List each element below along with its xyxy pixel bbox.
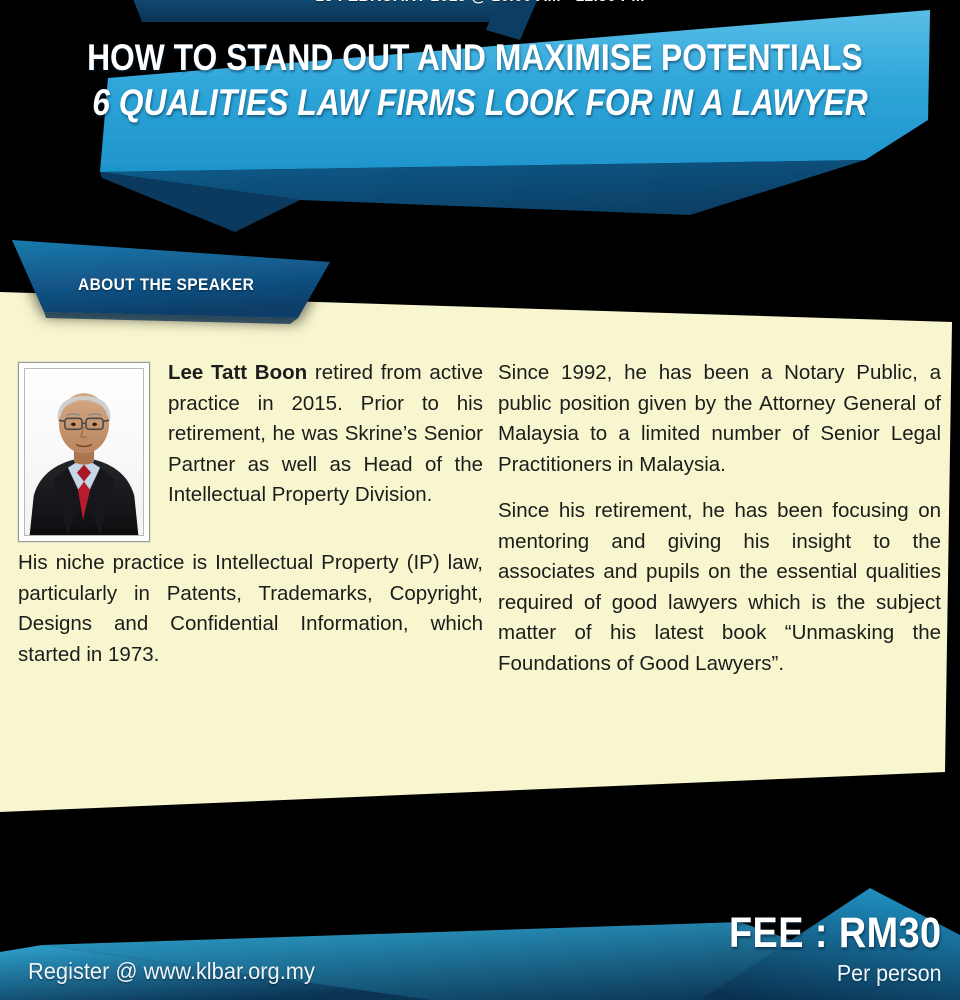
speaker-right-column: Since 1992, he has been a Notary Public,…	[498, 358, 941, 679]
portrait-frame	[24, 368, 144, 536]
speaker-bio-paragraph-2: His niche practice is Intellectual Prope…	[18, 548, 483, 670]
avatar	[18, 362, 150, 542]
speaker-name: Lee Tatt Boon	[168, 361, 307, 384]
register-link[interactable]: Register @ www.klbar.org.my	[28, 958, 315, 985]
speaker-portrait-icon	[25, 369, 143, 535]
speaker-left-column: Lee Tatt Boon retired from active practi…	[18, 358, 483, 670]
speaker-bio-paragraph-4: Since his retirement, he has been focusi…	[498, 496, 941, 679]
speaker-bio-paragraph-3: Since 1992, he has been a Notary Public,…	[498, 358, 941, 480]
speaker-content: Lee Tatt Boon retired from active practi…	[0, 358, 960, 758]
poster-root: 18 FEBRUARY 2019 @ 10.00 AM - 12.30 PM H…	[0, 0, 960, 1000]
date-ribbon-shape	[118, 0, 520, 22]
